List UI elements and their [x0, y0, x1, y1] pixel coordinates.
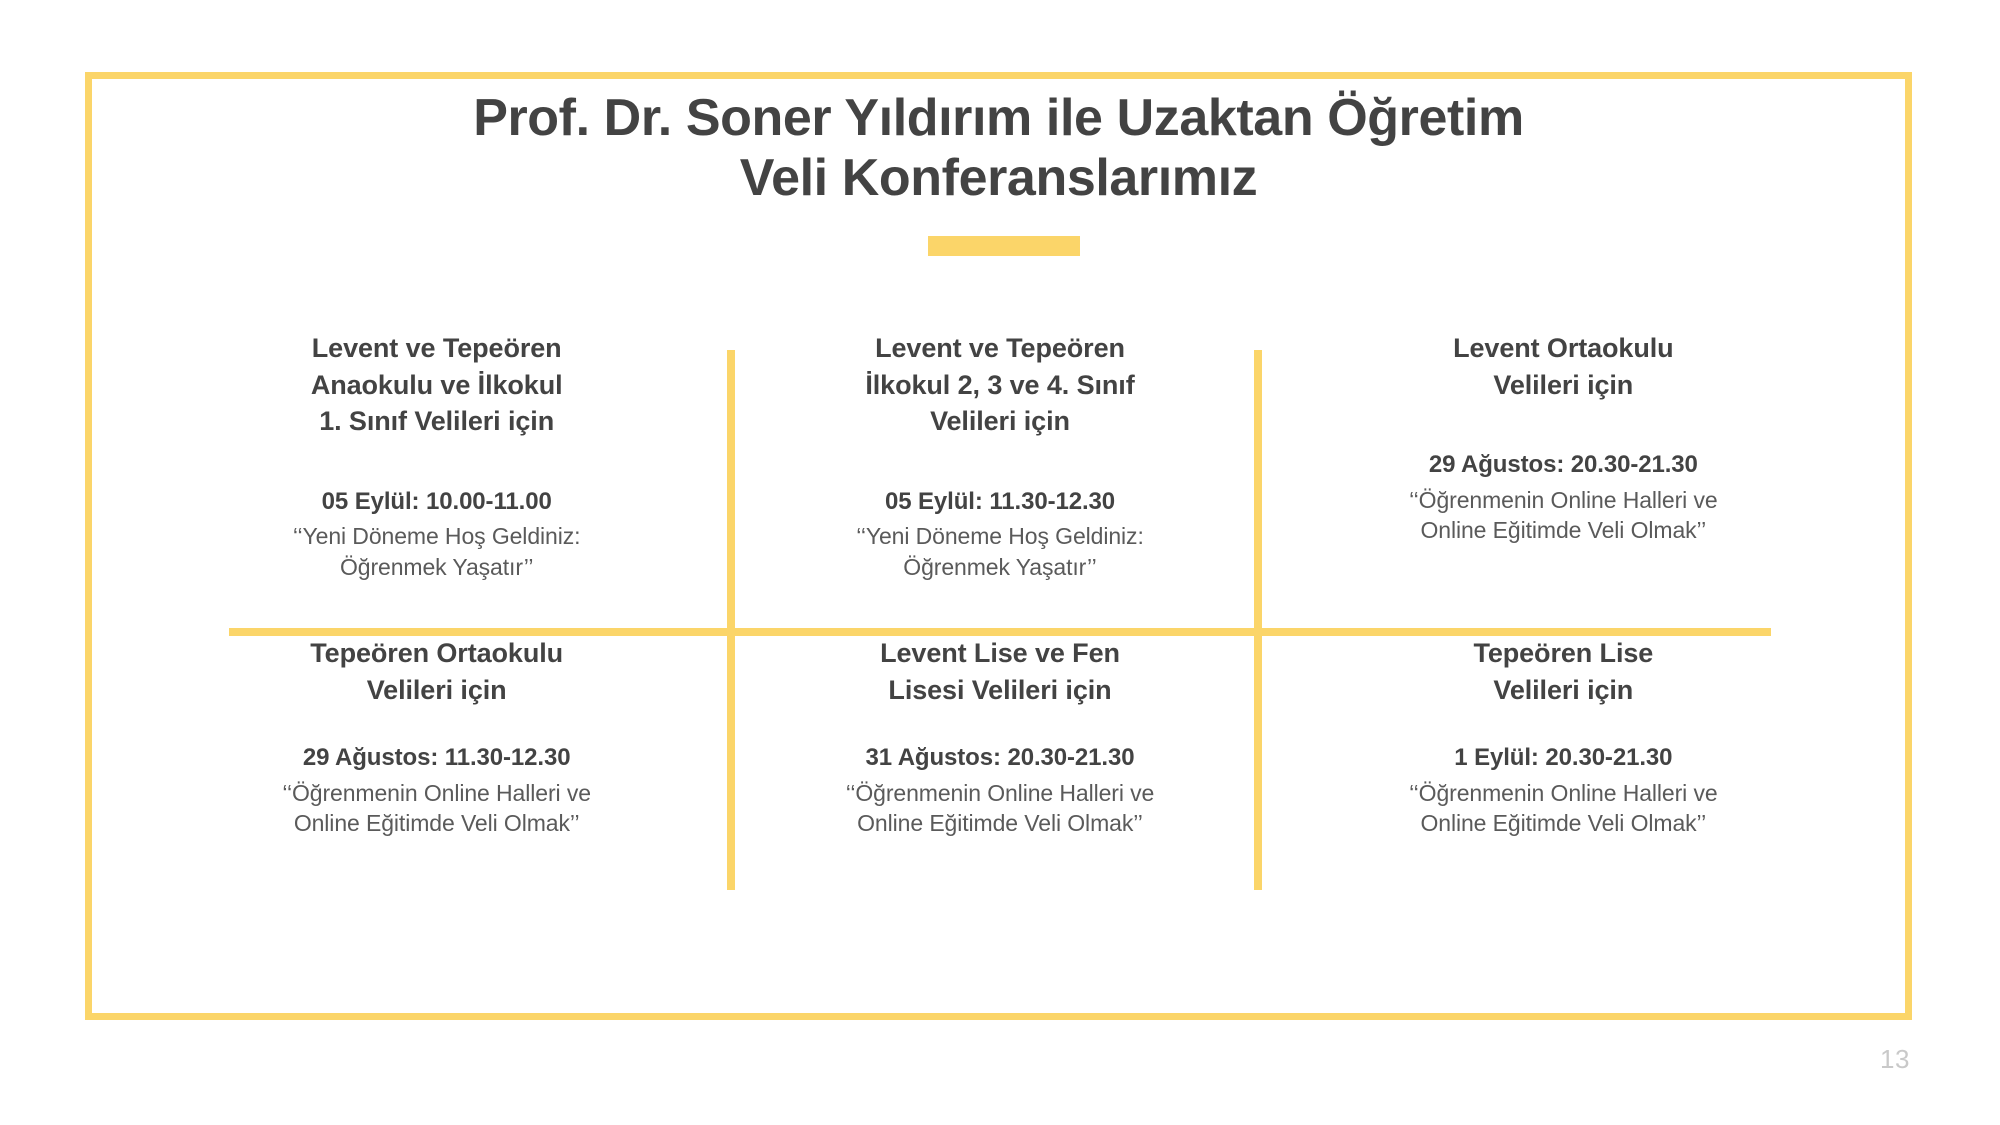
conference-cell-6: Tepeören Lise Velileri için 1 Eylül: 20.… [1282, 635, 1845, 900]
conference-cell-5: Levent Lise ve Fen Lisesi Velileri için … [718, 635, 1281, 900]
title-accent-bar [928, 236, 1080, 256]
cell-date: 1 Eylül: 20.30-21.30 [1308, 742, 1819, 773]
cell-title: Levent Lise ve Fen Lisesi Velileri için [744, 635, 1255, 708]
cell-quote: ‘‘Öğrenmenin Online Halleri ve Online Eğ… [1308, 778, 1819, 840]
cell-title: Tepeören Lise Velileri için [1308, 635, 1819, 708]
cell-date: 31 Ağustos: 20.30-21.30 [744, 742, 1255, 773]
cell-quote: ‘‘Yeni Döneme Hoş Geldiniz: Öğrenmek Yaş… [744, 521, 1255, 583]
cell-quote: ‘‘Öğrenmenin Online Halleri ve Online Eğ… [1308, 485, 1819, 547]
cell-date: 29 Ağustos: 11.30-12.30 [181, 742, 692, 773]
page-title-line-2: Veli Konferanslarımız [85, 148, 1912, 208]
cell-title: Levent ve Tepeören Anaokulu ve İlkokul 1… [181, 330, 692, 440]
cell-title: Tepeören Ortaokulu Velileri için [181, 635, 692, 708]
grid-divider-vertical-left [727, 350, 735, 890]
cell-quote: ‘‘Öğrenmenin Online Halleri ve Online Eğ… [744, 778, 1255, 840]
cell-date: 05 Eylül: 10.00-11.00 [181, 486, 692, 517]
cell-date: 29 Ağustos: 20.30-21.30 [1308, 449, 1819, 480]
page-title-line-1: Prof. Dr. Soner Yıldırım ile Uzaktan Öğr… [85, 88, 1912, 148]
cell-quote: ‘‘Yeni Döneme Hoş Geldiniz: Öğrenmek Yaş… [181, 521, 692, 583]
cell-title: Levent ve Tepeören İlkokul 2, 3 ve 4. Sı… [744, 330, 1255, 440]
conference-cell-4: Tepeören Ortaokulu Velileri için 29 Ağus… [155, 635, 718, 900]
cell-quote: ‘‘Öğrenmenin Online Halleri ve Online Eğ… [181, 778, 692, 840]
grid-row: Tepeören Ortaokulu Velileri için 29 Ağus… [155, 635, 1845, 900]
page-title: Prof. Dr. Soner Yıldırım ile Uzaktan Öğr… [85, 88, 1912, 209]
page-number: 13 [1855, 1044, 1935, 1075]
grid-row: Levent ve Tepeören Anaokulu ve İlkokul 1… [155, 330, 1845, 630]
grid-divider-horizontal [229, 628, 1771, 636]
conference-cell-2: Levent ve Tepeören İlkokul 2, 3 ve 4. Sı… [718, 330, 1281, 630]
grid-divider-vertical-right [1254, 350, 1262, 890]
cell-date: 05 Eylül: 11.30-12.30 [744, 486, 1255, 517]
cell-title: Levent Ortaokulu Velileri için [1308, 330, 1819, 403]
conference-cell-3: Levent Ortaokulu Velileri için 29 Ağusto… [1282, 330, 1845, 630]
conference-cell-1: Levent ve Tepeören Anaokulu ve İlkokul 1… [155, 330, 718, 630]
conference-grid: Levent ve Tepeören Anaokulu ve İlkokul 1… [155, 330, 1845, 900]
